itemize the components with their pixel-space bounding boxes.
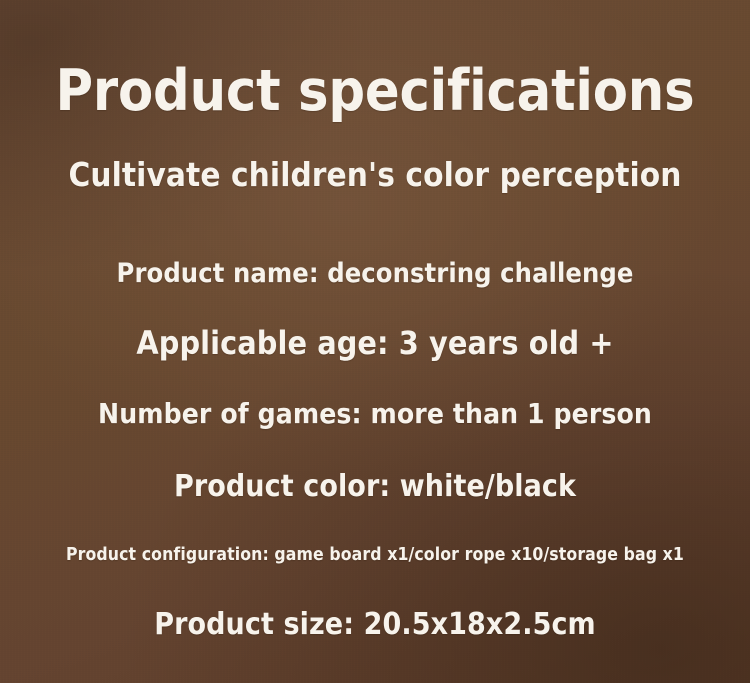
specification-stack: Product specifications Cultivate childre… [0, 0, 750, 683]
spec-applicable-age: Applicable age: 3 years old + [136, 327, 613, 361]
spec-product-size: Product size: 20.5x18x2.5cm [154, 609, 596, 641]
spec-product-configuration: Product configuration: game board x1/col… [66, 546, 684, 564]
spec-product-color: Product color: white/black [174, 471, 576, 503]
page-title: Product specifications [56, 62, 695, 122]
spec-number-of-games: Number of games: more than 1 person [98, 399, 652, 428]
spec-product-name: Product name: deconstring challenge [117, 260, 634, 288]
page-subtitle: Cultivate children's color perception [68, 158, 681, 193]
product-specifications-poster: Product specifications Cultivate childre… [0, 0, 750, 683]
